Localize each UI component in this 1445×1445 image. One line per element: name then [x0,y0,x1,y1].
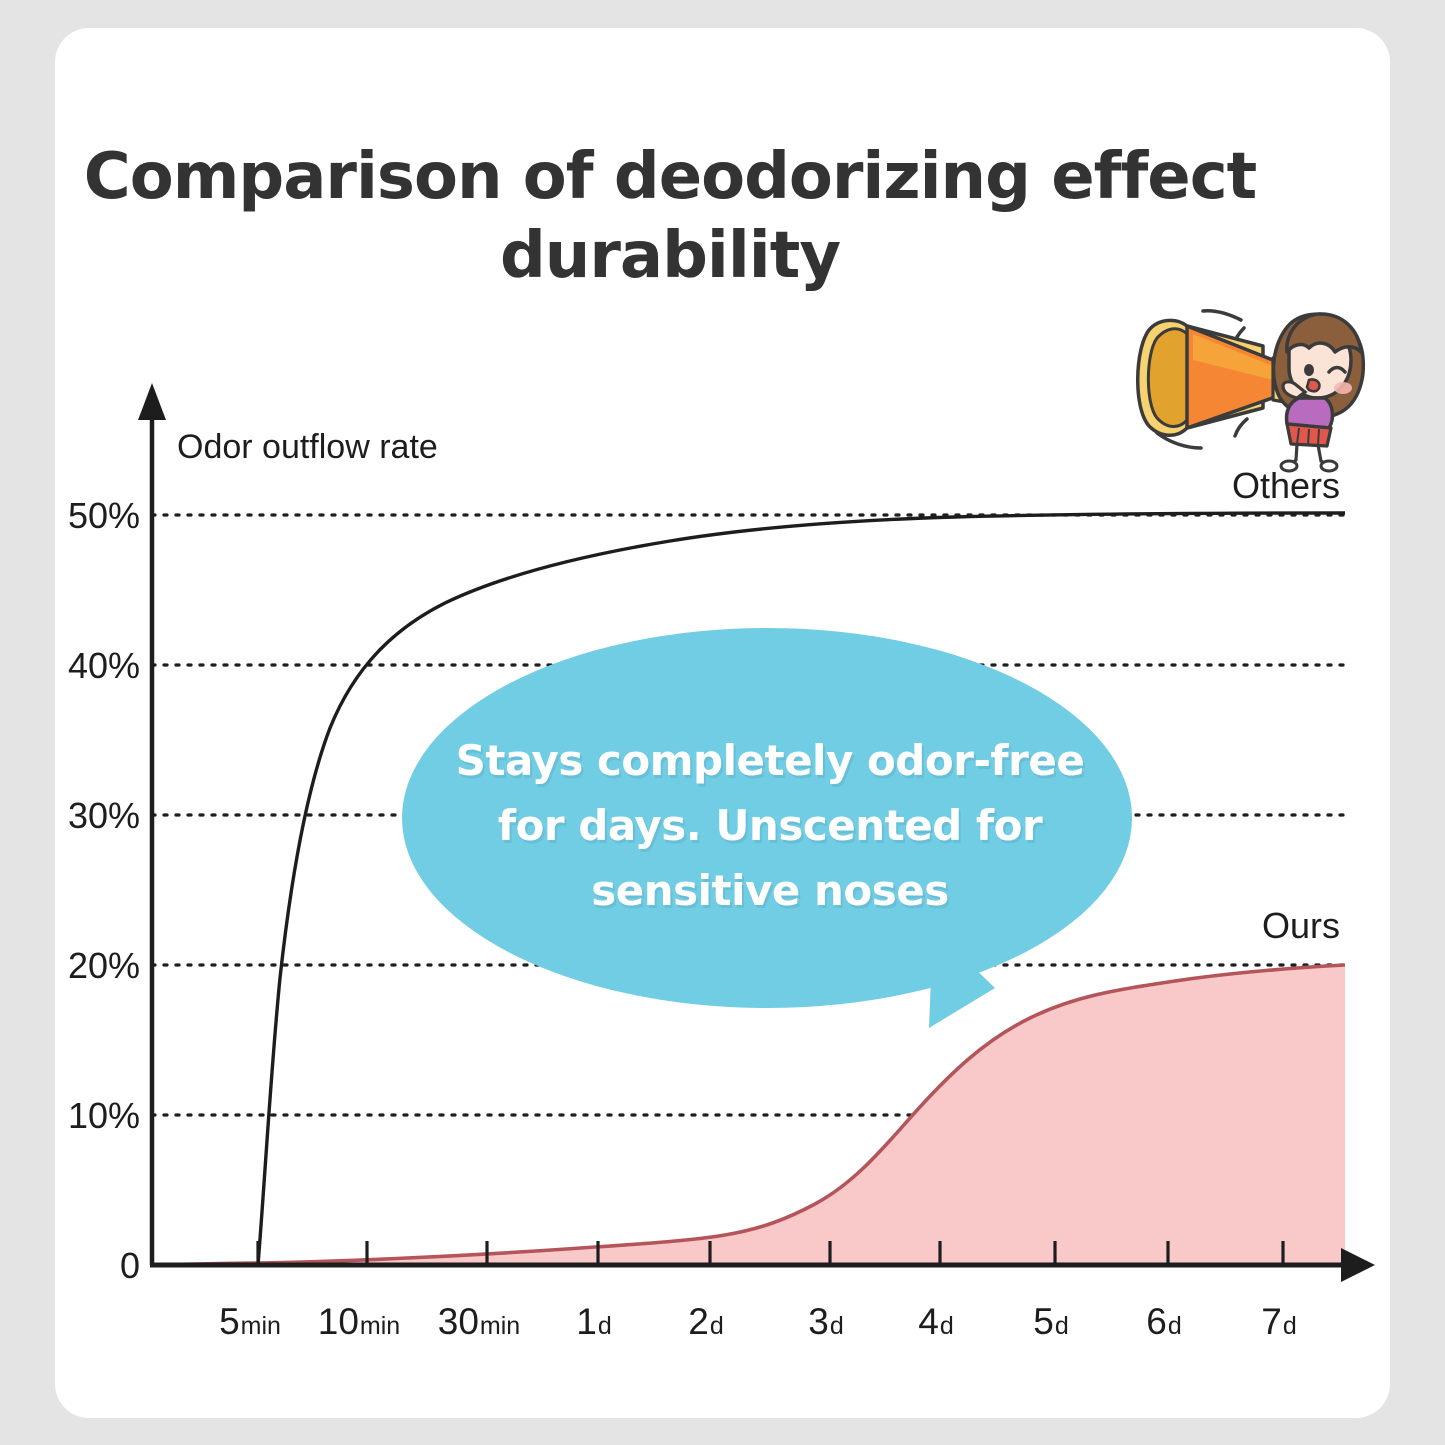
y-tick-label-50: 50% [68,495,140,536]
y-tick-label-0: 0 [120,1245,140,1286]
x-tick-text-6: 4d [918,1301,953,1342]
x-tick-text-2: 30min [438,1301,520,1342]
y-tick-label-30: 30% [68,795,140,836]
x-tick-text-1: 10min [318,1301,400,1342]
x-tick-text-4: 2d [688,1301,723,1342]
y-tick-label-40: 40% [68,645,140,686]
x-tick-labels: 5min 10min 30min 1d 2d 3d 4d 5d 6d 7d [219,1301,1297,1342]
series-label-others: Others [1232,465,1340,506]
chart-card: Comparison of deodorizing effect durabil… [55,28,1390,1418]
durability-chart: Odor outflow rate 50% 40% 30% 20% 10% 0 … [55,28,1390,1418]
x-tick-text-8: 6d [1146,1301,1181,1342]
y-tick-label-10: 10% [68,1095,140,1136]
series-label-ours: Ours [1262,905,1340,946]
y-tick-label-20: 20% [68,945,140,986]
x-tick-text-3: 1d [576,1301,611,1342]
x-tick-text-9: 7d [1261,1301,1296,1342]
callout-bubble-text: Stays completely odor-free for days. Uns… [420,728,1120,923]
x-tick-text-5: 3d [808,1301,843,1342]
y-axis [138,383,166,1265]
y-axis-title: Odor outflow rate [177,428,438,466]
x-tick-text-7: 5d [1033,1301,1068,1342]
x-tick-text-0: 5min [219,1301,281,1342]
